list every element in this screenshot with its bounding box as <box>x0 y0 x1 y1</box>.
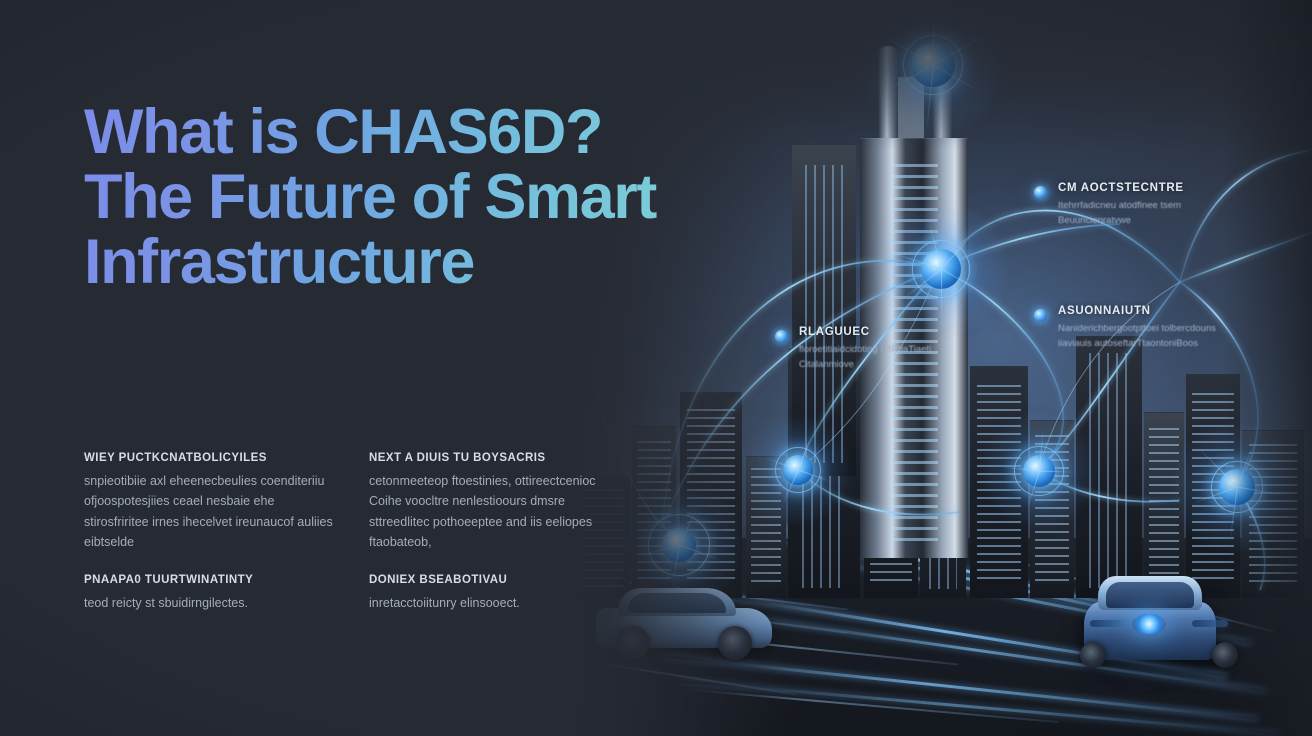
text-block: DONIEX BSEABOTIVAU inretacctoiitunry eli… <box>369 574 619 613</box>
headline-line-2: The Future of Smart <box>84 165 914 230</box>
callout-dot-icon <box>1034 309 1047 322</box>
car-sedan-right <box>1084 576 1234 676</box>
callout-body: Itehrrfadicneu atodfinee tsem Beuuncienr… <box>1058 199 1233 228</box>
brake-light-glow <box>1132 614 1166 634</box>
network-node-2[interactable] <box>910 238 972 300</box>
block-heading: PNAAPA0 TUURTWINATINTY <box>84 574 334 586</box>
block-heading: WIEY PUCTKCNATBOLICYILES <box>84 452 334 464</box>
headline-line-3: Infrastructure <box>84 230 914 295</box>
block-body: snpieotibiie axl eheenecbeulies coendite… <box>84 471 334 552</box>
callout-dot-icon <box>775 330 788 343</box>
page-title: What is CHAS6D? The Future of Smart Infr… <box>84 100 914 295</box>
callout-body: Naniderichbergootpttoei tolbercdouns iia… <box>1058 322 1233 351</box>
text-block: WIEY PUCTKCNATBOLICYILES snpieotibiie ax… <box>84 452 334 552</box>
column-left: WIEY PUCTKCNATBOLICYILES snpieotibiie ax… <box>84 452 334 635</box>
callout-body: floroetitiaidcidoting ITtRtiaTiaeti Cita… <box>799 343 955 372</box>
callout-dot-icon <box>1034 186 1047 199</box>
column-right: NEXT A DIUIS TU BOYSACRIS cetonmeeteop f… <box>369 452 619 635</box>
block-heading: DONIEX BSEABOTIVAU <box>369 574 619 586</box>
callout-title: ASUONNAIUTN <box>1058 305 1244 317</box>
text-block: PNAAPA0 TUURTWINATINTY teod reicty st sb… <box>84 574 334 613</box>
headline-line-1: What is CHAS6D? <box>84 100 914 165</box>
callout-realtime[interactable]: RLAGUUEC floroetitiaidcidoting ITtRtiaTi… <box>775 326 955 372</box>
block-heading: NEXT A DIUIS TU BOYSACRIS <box>369 452 619 464</box>
block-body: inretacctoiitunry elinsooect. <box>369 593 619 613</box>
callout-title: CM AOCTSTECNTRE <box>1058 182 1234 194</box>
block-body: teod reicty st sbuidirngilectes. <box>84 593 334 613</box>
callout-title: RLAGUUEC <box>799 326 955 338</box>
callout-architecture[interactable]: CM AOCTSTECNTRE Itehrrfadicneu atodfinee… <box>1034 182 1234 228</box>
callout-automation[interactable]: ASUONNAIUTN Naniderichbergootpttoei tolb… <box>1034 305 1244 351</box>
text-block: NEXT A DIUIS TU BOYSACRIS cetonmeeteop f… <box>369 452 619 552</box>
poster-canvas: What is CHAS6D? The Future of Smart Infr… <box>0 0 1312 736</box>
block-body: cetonmeeteop ftoestinies, ottireectcenio… <box>369 471 619 552</box>
network-node-5[interactable] <box>1010 442 1068 500</box>
